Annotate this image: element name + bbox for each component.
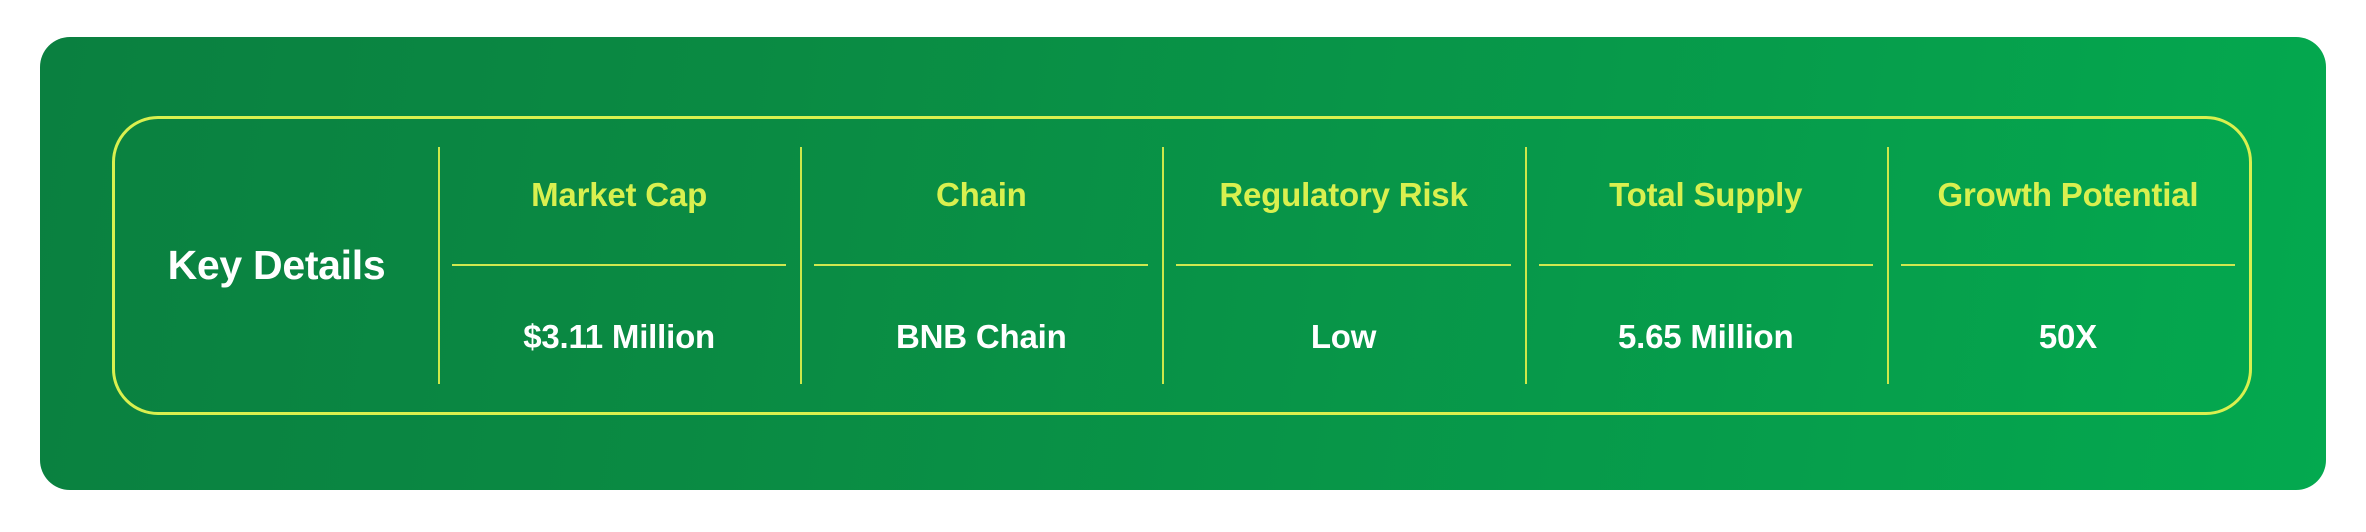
metric-column-total-supply: Total Supply 5.65 Million <box>1525 119 1887 412</box>
metric-value-total-supply: 5.65 Million <box>1618 318 1793 356</box>
key-details-title: Key Details <box>168 242 386 289</box>
key-details-card: Key Details Market Cap $3.11 Million Cha… <box>40 37 2326 490</box>
metric-header-total-supply: Total Supply <box>1525 119 1887 266</box>
metric-body-regulatory-risk: Low <box>1162 266 1524 413</box>
metric-body-market-cap: $3.11 Million <box>438 266 800 413</box>
metric-body-growth-potential: 50X <box>1887 266 2249 413</box>
metrics-row: Market Cap $3.11 Million Chain BNB Chain… <box>438 119 2249 412</box>
metric-column-growth-potential: Growth Potential 50X <box>1887 119 2249 412</box>
metric-title-regulatory-risk: Regulatory Risk <box>1219 176 1467 214</box>
metric-column-regulatory-risk: Regulatory Risk Low <box>1162 119 1524 412</box>
key-details-panel: Key Details Market Cap $3.11 Million Cha… <box>112 116 2252 415</box>
metric-header-chain: Chain <box>800 119 1162 266</box>
metric-value-regulatory-risk: Low <box>1311 318 1376 356</box>
metric-header-growth-potential: Growth Potential <box>1887 119 2249 266</box>
metric-header-regulatory-risk: Regulatory Risk <box>1162 119 1524 266</box>
metric-title-growth-potential: Growth Potential <box>1938 176 2199 214</box>
metric-body-chain: BNB Chain <box>800 266 1162 413</box>
metric-body-total-supply: 5.65 Million <box>1525 266 1887 413</box>
metric-value-chain: BNB Chain <box>896 318 1067 356</box>
metric-title-market-cap: Market Cap <box>531 176 707 214</box>
metric-value-growth-potential: 50X <box>2039 318 2097 356</box>
metric-value-market-cap: $3.11 Million <box>523 318 715 356</box>
metric-column-chain: Chain BNB Chain <box>800 119 1162 412</box>
key-details-label-cell: Key Details <box>115 119 438 412</box>
metric-title-total-supply: Total Supply <box>1609 176 1802 214</box>
metric-title-chain: Chain <box>936 176 1027 214</box>
metric-column-market-cap: Market Cap $3.11 Million <box>438 119 800 412</box>
metric-header-market-cap: Market Cap <box>438 119 800 266</box>
